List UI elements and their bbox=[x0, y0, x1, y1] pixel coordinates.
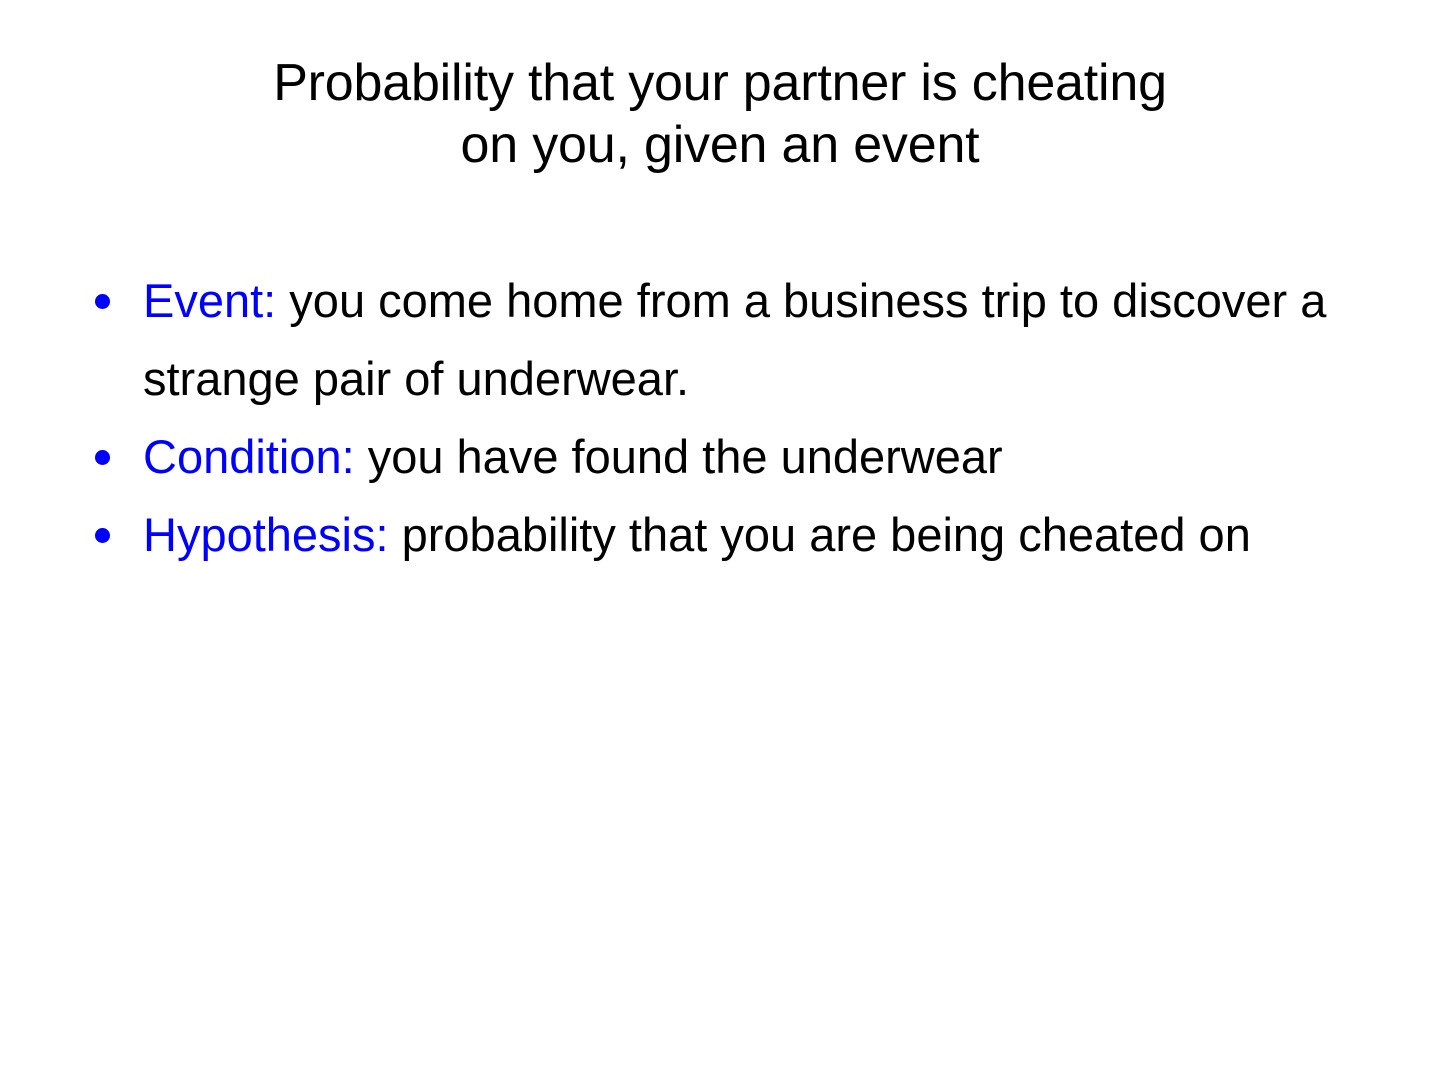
list-item: Hypothesis: probability that you are bei… bbox=[88, 496, 1358, 574]
slide-title-line-2: on you, given an event bbox=[461, 116, 980, 174]
bullet-list: Event: you come home from a business tri… bbox=[88, 262, 1358, 574]
bullet-label-event: Event: bbox=[143, 274, 276, 327]
bullet-text-condition: you have found the underwear bbox=[355, 430, 1003, 483]
bullet-text-hypothesis: probability that you are being cheated o… bbox=[389, 508, 1251, 561]
bullet-dot-icon bbox=[95, 450, 110, 465]
bullet-dot-icon bbox=[95, 528, 110, 543]
bullet-label-condition: Condition: bbox=[143, 430, 355, 483]
bullet-dot-icon bbox=[95, 294, 110, 309]
slide-canvas: Probability that your partner is cheatin… bbox=[0, 0, 1440, 1080]
list-item: Event: you come home from a business tri… bbox=[88, 262, 1358, 418]
list-item: Condition: you have found the underwear bbox=[88, 418, 1358, 496]
page-title: Probability that your partner is cheatin… bbox=[60, 52, 1380, 176]
slide-title-line-1: Probability that your partner is cheatin… bbox=[273, 54, 1167, 112]
bullet-text-event: you come home from a business trip to di… bbox=[143, 274, 1326, 405]
bullet-label-hypothesis: Hypothesis: bbox=[143, 508, 389, 561]
